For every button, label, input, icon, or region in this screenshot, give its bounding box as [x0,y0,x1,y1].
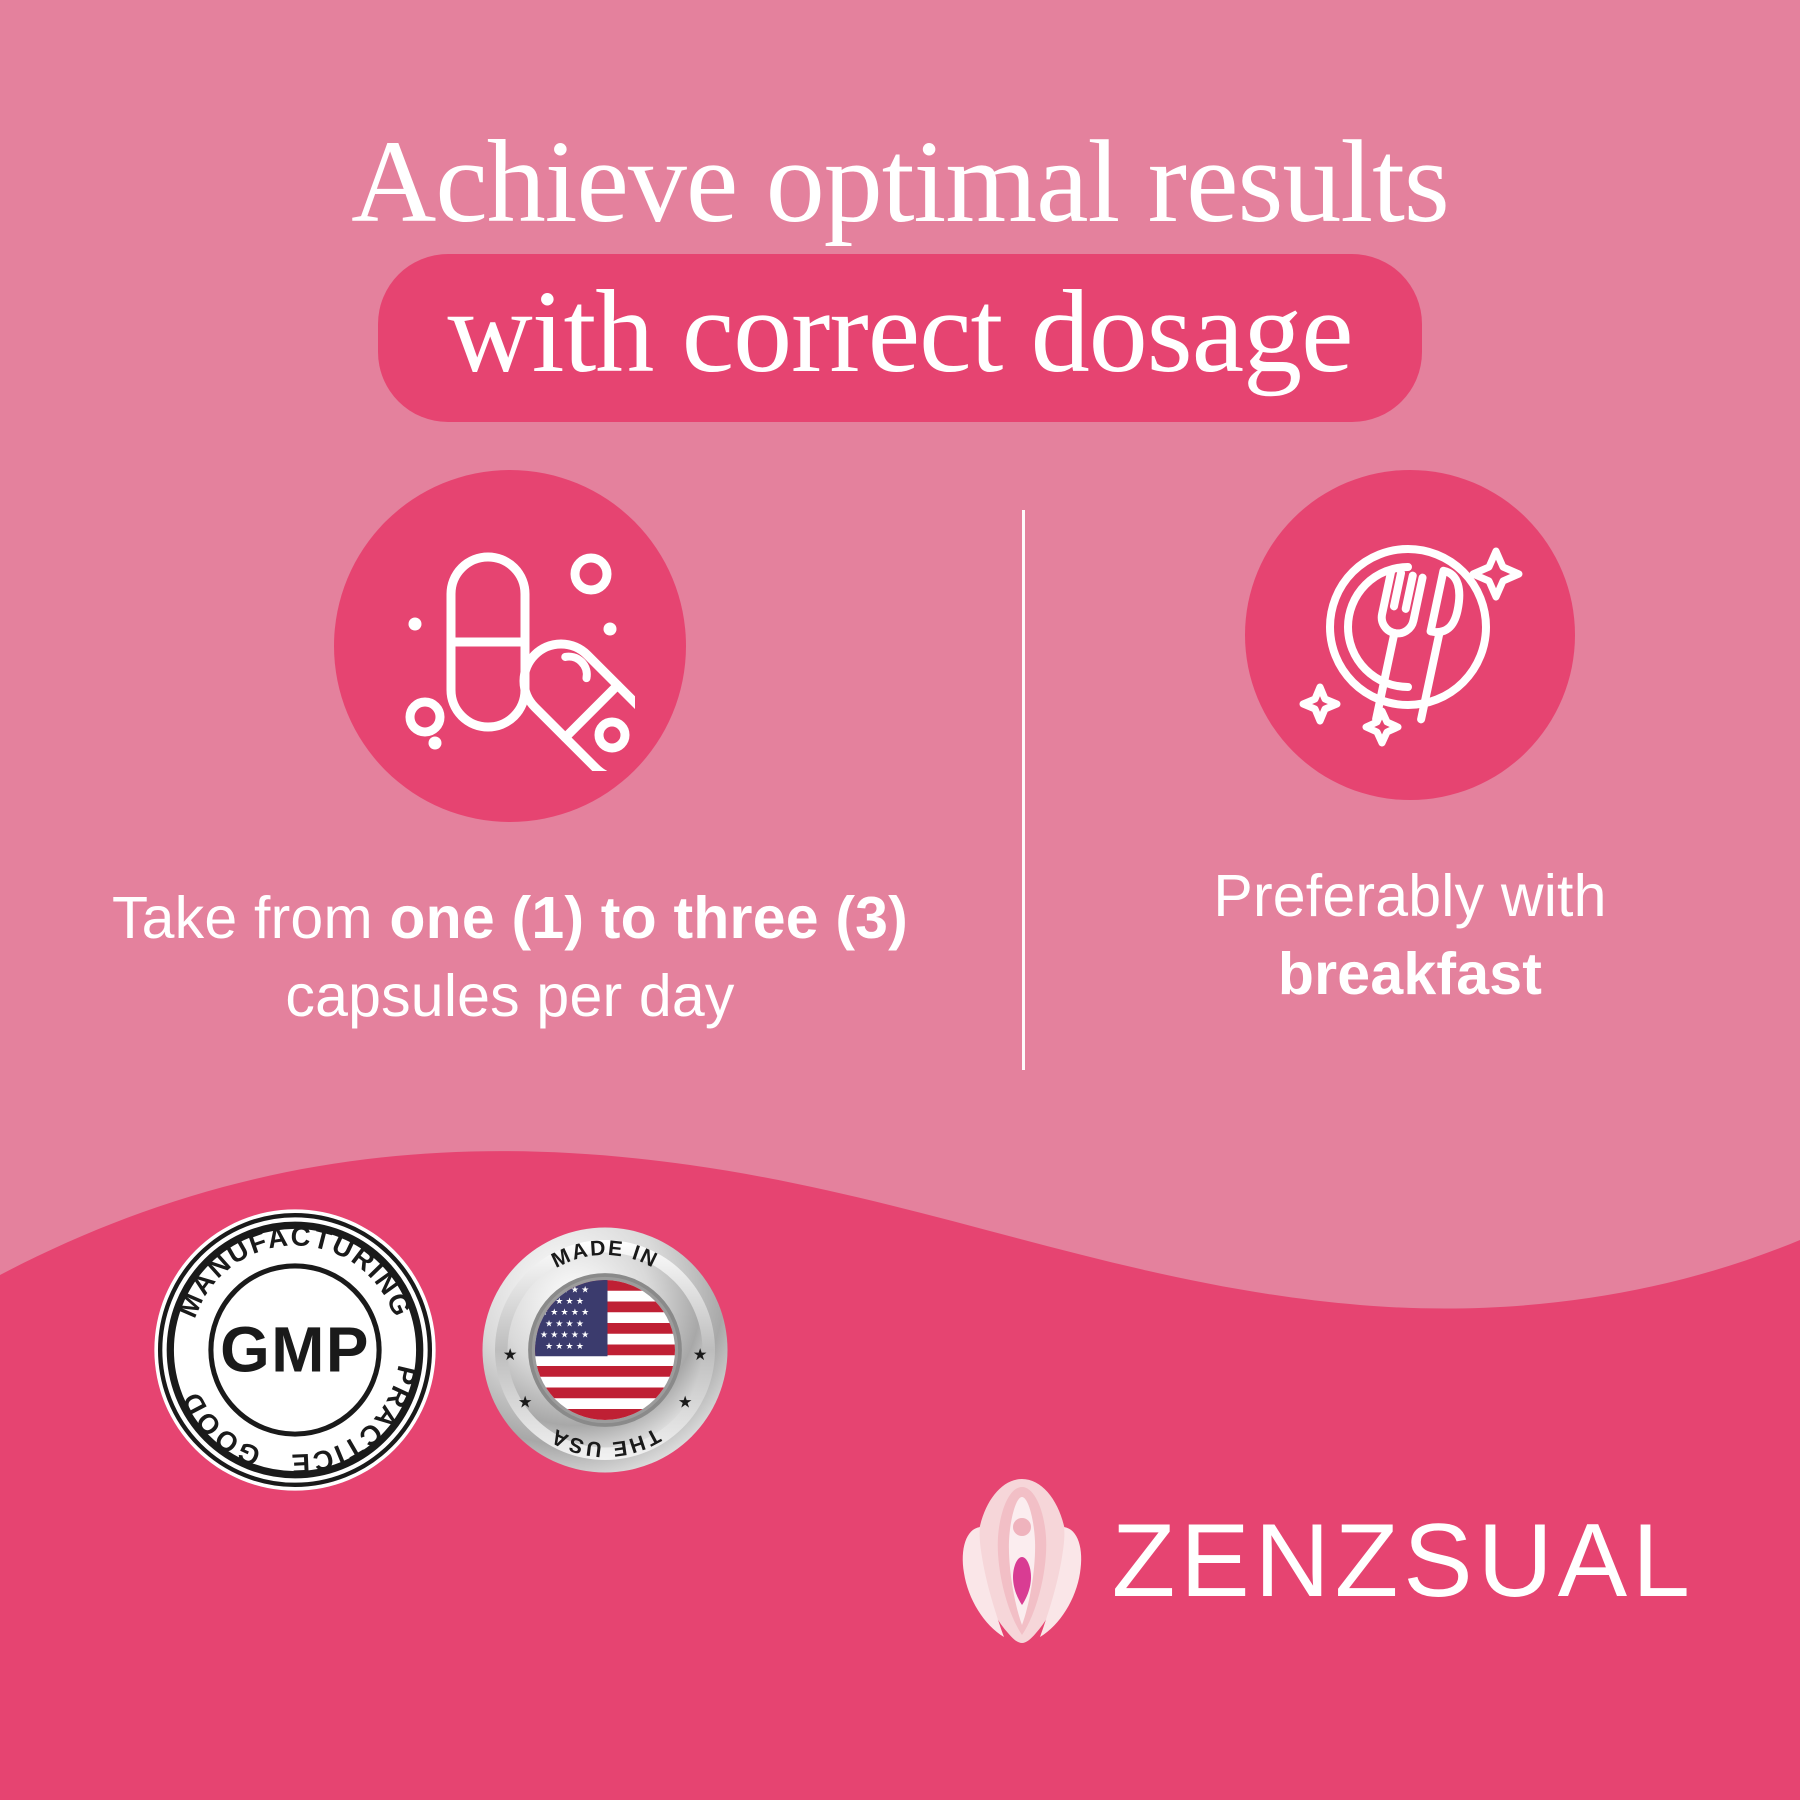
gmp-badge-graphic: MANUFACTURING PRACTICE GOOD GMP [150,1205,440,1495]
svg-text:★: ★ [678,1394,693,1412]
headline-pill-wrapper: with correct dosage [0,254,1800,422]
zenzsual-logo-text: ZENZSUAL [1112,1509,1695,1613]
dosage-columns: Take from one (1) to three (3) capsules … [0,470,1800,1090]
svg-text:★: ★ [518,1394,533,1412]
dosage-column-capsules: Take from one (1) to three (3) capsules … [0,470,1020,1090]
made-in-usa-graphic: ★ ★ ★ ★ ★ ★ ★ ★ ★ ★ ★ ★ ★ ★ ★ ★ ★ ★ ★ ★ … [480,1225,730,1475]
svg-text:★: ★ [503,1346,518,1364]
dosage-column-breakfast: Preferably with breakfast [1020,470,1800,1090]
breakfast-caption-plain-1: Preferably with [1213,863,1606,929]
gmp-center-text: GMP [220,1314,370,1386]
zenzsual-logo-mark [958,1475,1086,1647]
made-in-usa-badge: ★ ★ ★ ★ ★ ★ ★ ★ ★ ★ ★ ★ ★ ★ ★ ★ ★ ★ ★ ★ … [480,1225,730,1475]
capsules-caption-bold: one (1) to three (3) [389,885,908,951]
certification-badges: MANUFACTURING PRACTICE GOOD GMP [150,1205,730,1495]
gmp-badge: MANUFACTURING PRACTICE GOOD GMP [150,1205,440,1495]
plate-cutlery-icon [1290,515,1530,755]
zenzsual-logo: ZENZSUAL [958,1475,1695,1647]
svg-text:★ ★ ★ ★: ★ ★ ★ ★ [545,1341,584,1351]
plate-icon-circle [1245,470,1575,800]
svg-text:★ ★ ★ ★ ★: ★ ★ ★ ★ ★ [540,1330,589,1340]
capsules-icon-circle [334,470,686,822]
column-divider [1022,510,1025,1070]
capsules-caption: Take from one (1) to three (3) capsules … [90,880,930,1036]
capsules-icon [385,521,635,771]
usa-flag: ★ ★ ★ ★ ★ ★ ★ ★ ★ ★ ★ ★ ★ ★ ★ ★ ★ ★ ★ ★ … [535,1280,675,1420]
svg-text:★: ★ [693,1346,708,1364]
headline-block: Achieve optimal results with correct dos… [0,120,1800,422]
headline-highlight-pill: with correct dosage [378,254,1423,422]
breakfast-caption-bold: breakfast [1278,941,1542,1007]
capsules-caption-plain-1: Take from [112,885,389,951]
headline-line-1: Achieve optimal results [0,120,1800,244]
breakfast-caption: Preferably with breakfast [1110,858,1710,1014]
capsules-caption-plain-2: capsules per day [285,963,734,1029]
svg-text:★ ★ ★ ★: ★ ★ ★ ★ [545,1318,584,1328]
